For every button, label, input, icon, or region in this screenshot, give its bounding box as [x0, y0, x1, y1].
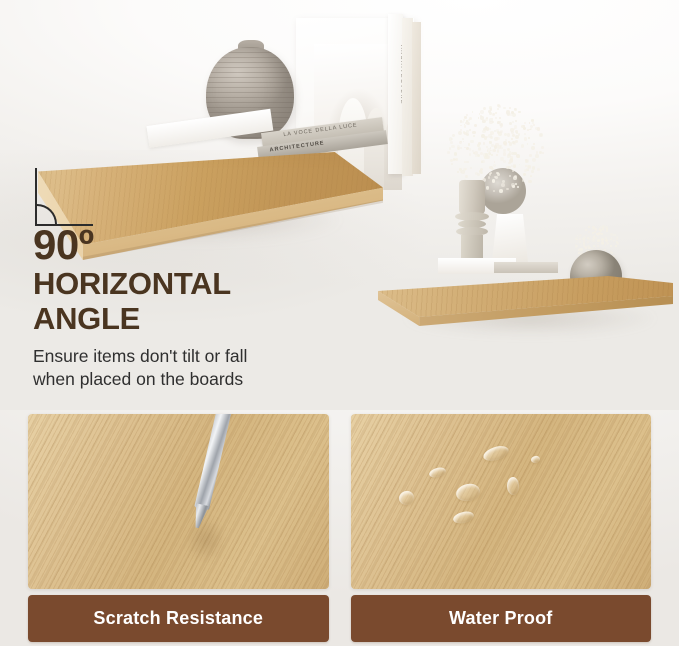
water-proof-label: Water Proof	[449, 608, 553, 629]
subtitle-line-2: when placed on the boards	[33, 368, 363, 391]
product-feature-image: ARCHITECTURE HOME COLLECTION LA VOCE DEL…	[0, 0, 679, 646]
book-spine-vertical-1: ARCHITECTURE	[388, 14, 403, 174]
scratch-resistance-label: Scratch Resistance	[93, 608, 263, 629]
headline-degree: 90º	[33, 224, 363, 267]
headline-block: 90º HORIZONTAL ANGLE Ensure items don't …	[33, 224, 363, 391]
floating-shelf-lower	[378, 276, 673, 326]
water-droplet	[506, 477, 519, 496]
scratch-resistance-banner: Scratch Resistance	[28, 595, 329, 642]
decor-white-object	[492, 214, 528, 262]
wood-surface	[351, 414, 652, 589]
vase-part	[459, 180, 485, 214]
headline-line-2: HORIZONTAL	[33, 267, 363, 302]
headline-line-3: ANGLE	[33, 302, 363, 337]
feature-cards: Scratch Resistance Water Proof	[28, 414, 651, 642]
water-proof-photo	[351, 414, 652, 589]
scratch-resistance-photo	[28, 414, 329, 589]
book-spine-vertical-3	[412, 22, 421, 174]
subtitle-block: Ensure items don't tilt or fall when pla…	[33, 345, 363, 391]
water-proof-card: Water Proof	[351, 414, 652, 642]
subtitle-line-1: Ensure items don't tilt or fall	[33, 345, 363, 368]
scratch-resistance-card: Scratch Resistance	[28, 414, 329, 642]
water-proof-banner: Water Proof	[351, 595, 652, 642]
book-lower-grey	[494, 262, 558, 273]
right-angle-indicator	[35, 168, 95, 226]
